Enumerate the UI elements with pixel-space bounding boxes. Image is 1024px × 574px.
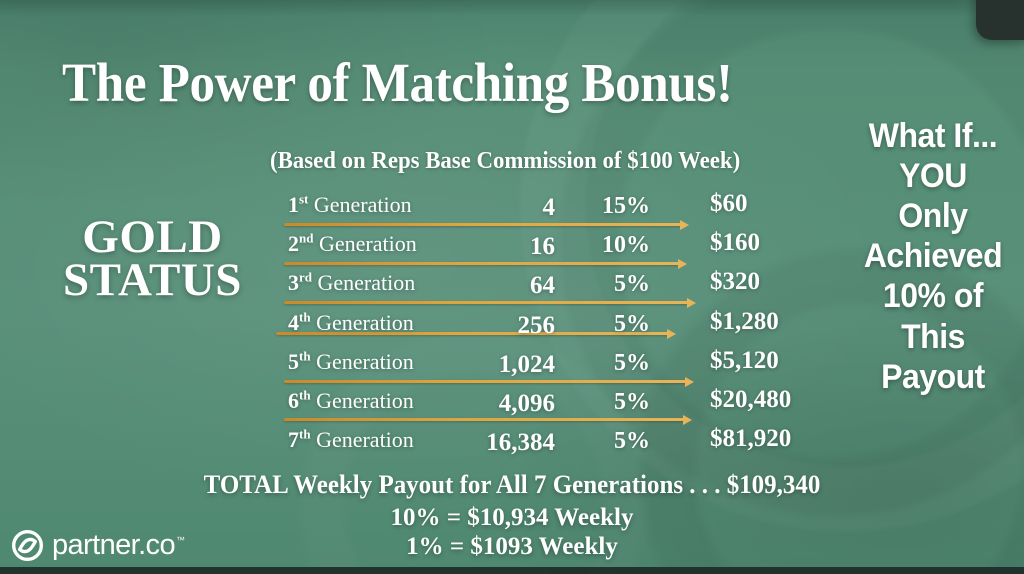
generation-suffix: th [299,388,311,403]
generation-amount: $5,120 [710,347,779,375]
total-ten-percent: 10% = $10,934 Weekly [0,504,1024,532]
bottom-edge-bar [0,567,1024,574]
slide-title: The Power of Matching Bonus! [62,51,733,114]
generation-amount: $320 [710,268,760,296]
generation-word: Generation [314,192,412,217]
generation-count: 16,384 [450,429,555,457]
generation-ordinal: 5 [288,349,299,374]
table-row: 4th Generation 256 5% $1,280 [270,310,830,349]
generation-label: 1st Generation [288,192,412,218]
callout-line-4: Achieved [850,236,1015,276]
generation-amount: $1,280 [710,308,779,336]
rank-status-line-2: STATUS [30,259,275,302]
generation-count: 64 [450,272,555,300]
generation-count: 1,024 [450,351,555,379]
generation-word: Generation [316,310,414,335]
generation-suffix: nd [299,231,313,246]
callout-line-3: Only [850,196,1015,236]
callout-line-7: Payout [850,357,1015,397]
partner-swirl-icon [12,530,43,561]
generation-suffix: th [299,310,311,325]
generation-ordinal: 4 [288,310,299,335]
video-overlay-corner [976,0,1024,40]
generation-label: 7th Generation [288,427,414,453]
generation-label: 2nd Generation [288,231,417,257]
generation-percent: 5% [570,350,650,377]
rank-status-label: GOLD STATUS [30,216,275,302]
generation-ordinal: 6 [288,388,299,413]
generation-word: Generation [316,388,414,413]
generation-amount: $60 [710,190,748,218]
slide-subtitle: (Based on Reps Base Commission of $100 W… [270,148,740,175]
generation-ordinal: 3 [288,270,299,295]
generation-word: Generation [318,270,416,295]
generation-label: 4th Generation [288,310,414,336]
generation-amount: $81,920 [710,425,791,453]
callout-line-2: YOU [850,156,1015,196]
generations-table: 1st Generation 4 15% $60 2nd Generation … [270,186,830,461]
generation-label: 5th Generation [288,349,414,375]
generation-word: Generation [319,231,417,256]
generation-suffix: rd [299,270,312,285]
total-weekly-payout: TOTAL Weekly Payout for All 7 Generation… [20,470,1003,500]
generation-percent: 5% [570,311,650,338]
brand-logo: partner.co™ [12,529,184,562]
table-row: 3rd Generation 64 5% $320 [270,270,830,309]
generation-percent: 15% [570,193,650,220]
generation-percent: 5% [570,271,650,298]
table-row: 1st Generation 4 15% $60 [270,192,830,231]
callout-line-1: What If... [850,116,1015,156]
generation-suffix: st [299,192,308,207]
generation-ordinal: 7 [288,427,299,452]
generation-count: 256 [450,312,555,340]
generation-word: Generation [316,349,414,374]
what-if-callout: What If... YOU Only Achieved 10% of This… [850,116,1015,397]
generation-label: 3rd Generation [288,270,415,296]
trademark-symbol: ™ [176,535,184,545]
table-row: 6th Generation 4,096 5% $20,480 [270,388,830,427]
brand-wordmark: partner.co™ [52,529,184,562]
generation-count: 4 [450,194,555,222]
callout-line-5: 10% of [850,276,1015,316]
presentation-slide: The Power of Matching Bonus! (Based on R… [0,0,1024,574]
generation-suffix: th [299,427,311,442]
generation-suffix: th [299,349,311,364]
callout-line-6: This [850,317,1015,357]
table-row: 5th Generation 1,024 5% $5,120 [270,349,830,388]
table-row: 2nd Generation 16 10% $160 [270,231,830,270]
generation-word: Generation [316,427,414,452]
generation-ordinal: 2 [288,231,299,256]
generation-amount: $160 [710,229,760,257]
generation-percent: 5% [570,428,650,455]
generation-count: 16 [450,233,555,261]
generation-label: 6th Generation [288,388,414,414]
top-edge-shade [0,0,1024,16]
generation-percent: 5% [570,389,650,416]
generation-count: 4,096 [450,390,555,418]
rank-status-line-1: GOLD [30,216,275,259]
generation-amount: $20,480 [710,386,791,414]
table-row: 7th Generation 16,384 5% $81,920 [270,427,830,466]
generation-ordinal: 1 [288,192,299,217]
generation-percent: 10% [570,232,650,259]
